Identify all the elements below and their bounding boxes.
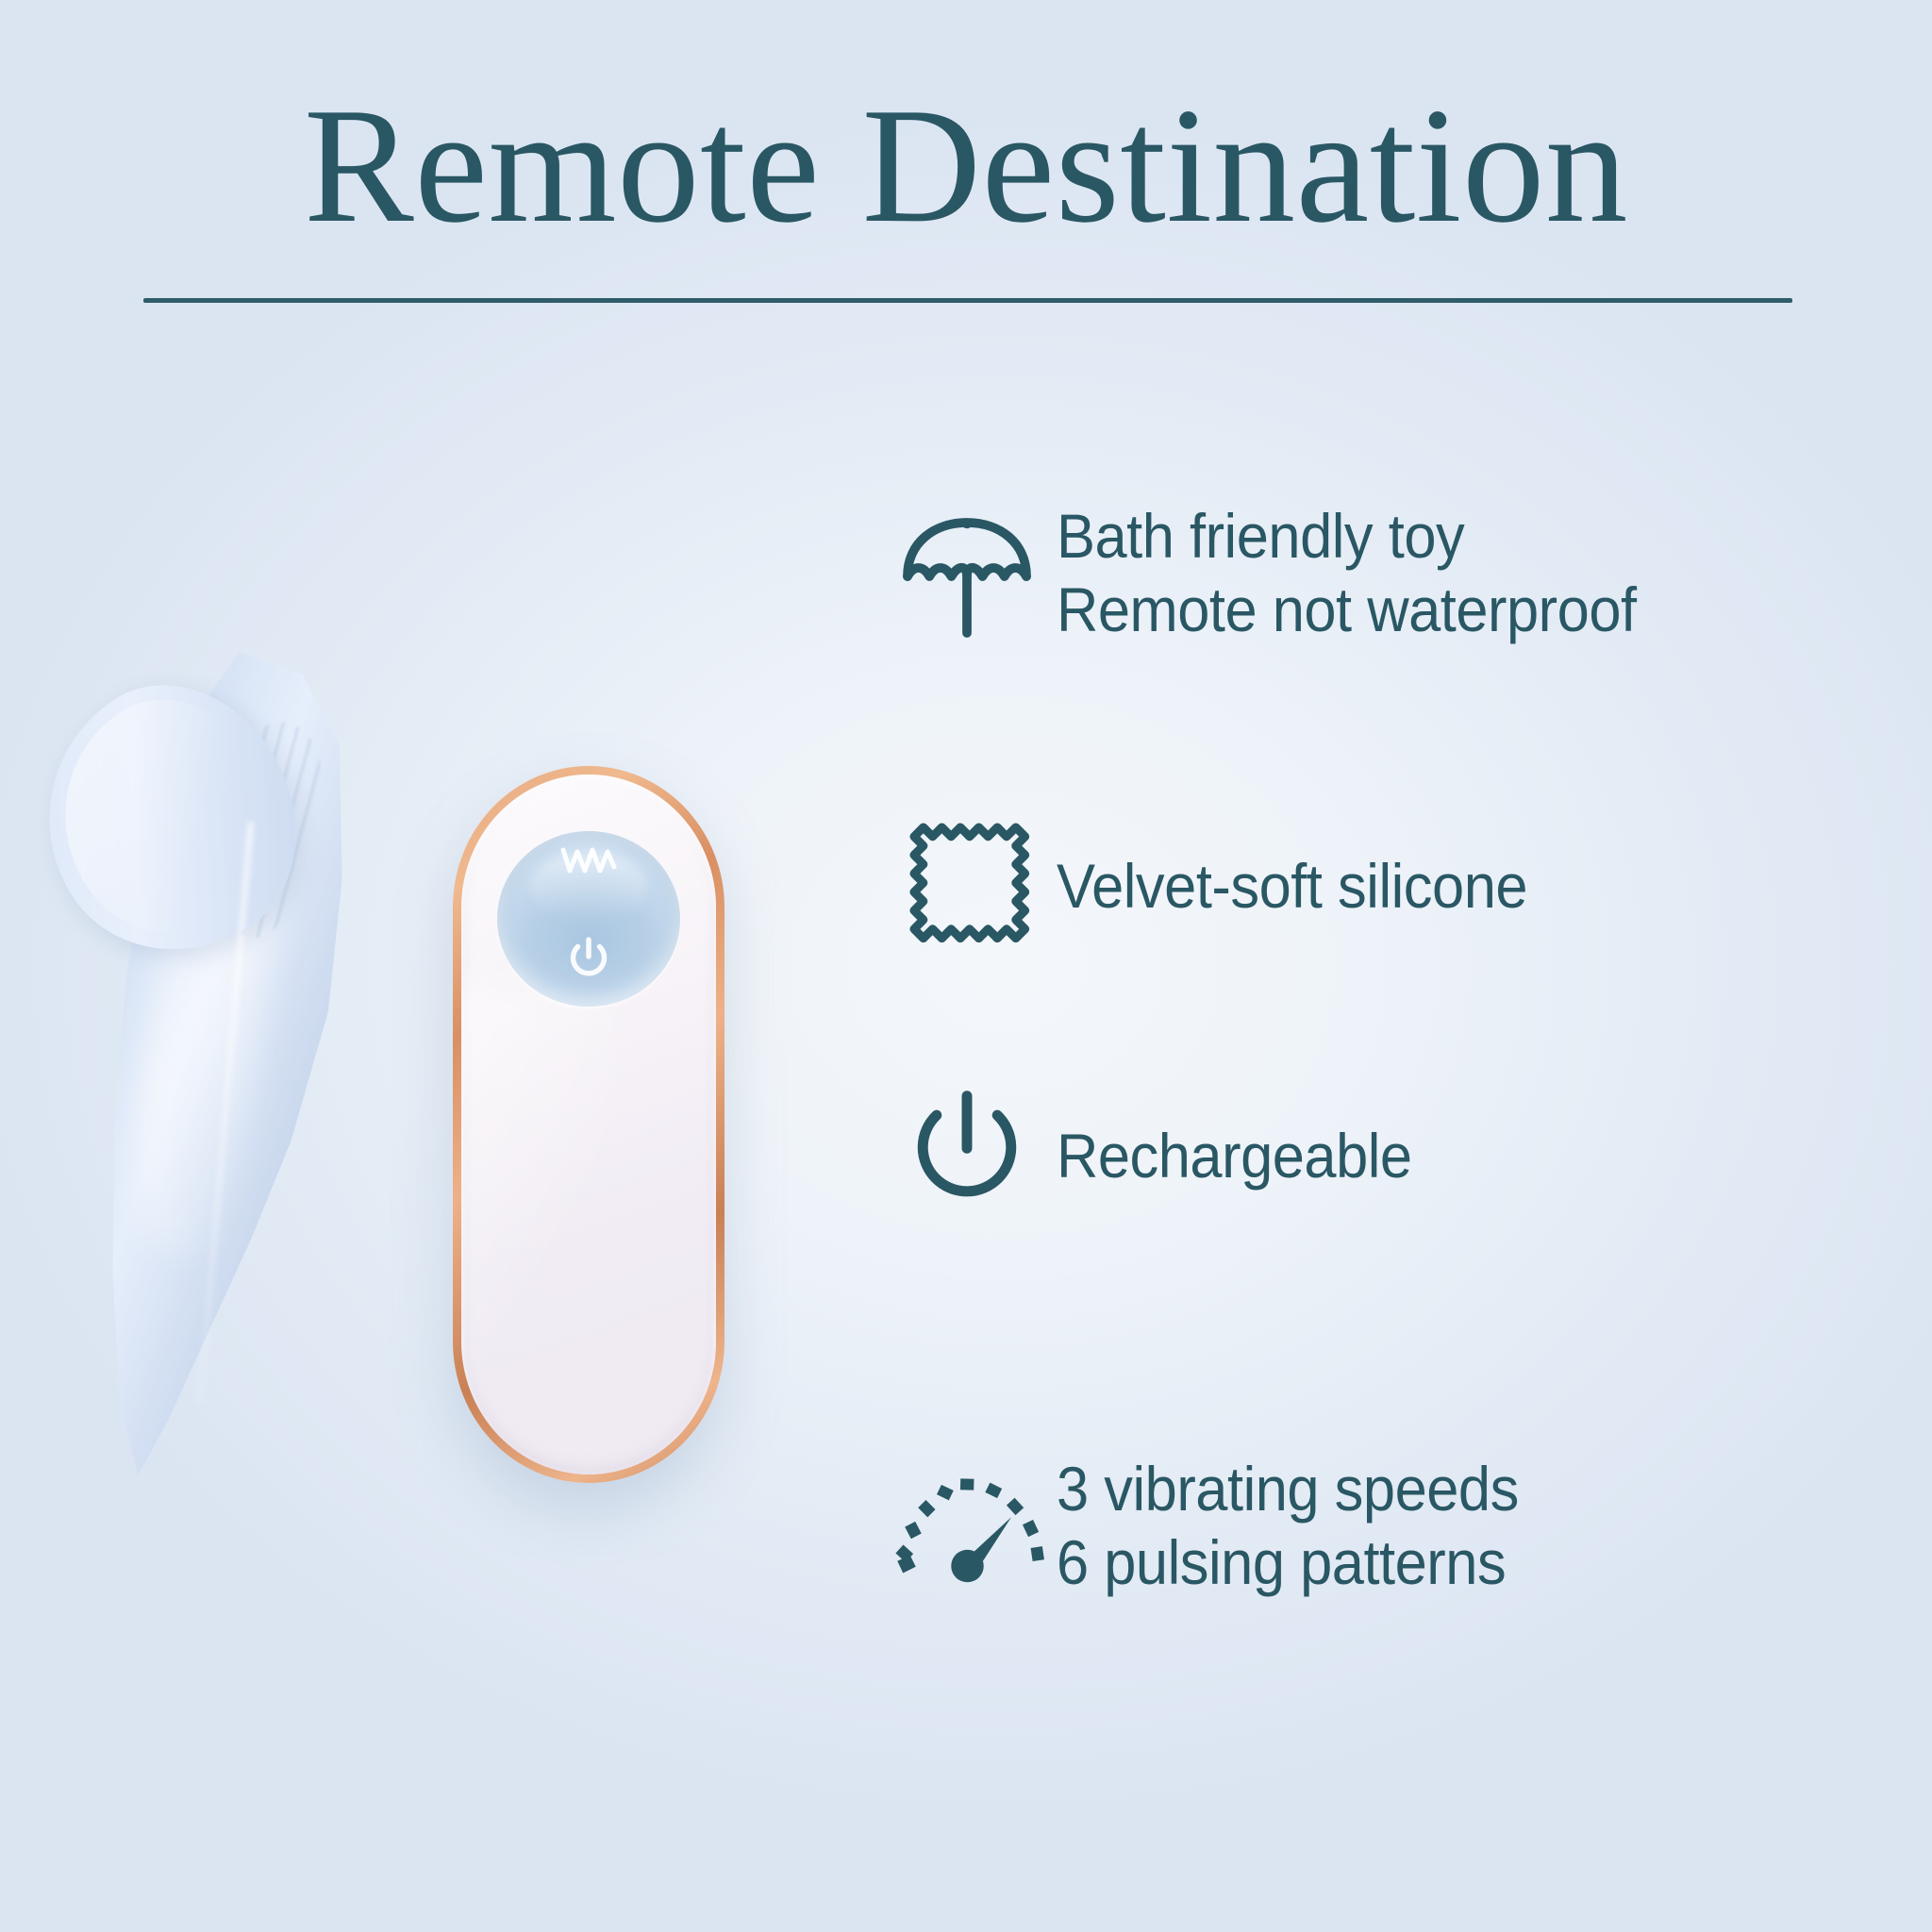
umbrella-icon xyxy=(877,503,1057,644)
feature-text-silicone: Velvet-soft silicone xyxy=(1057,850,1828,924)
feature-row-speeds: 3 vibrating speeds 6 pulsing patterns xyxy=(877,1453,1887,1600)
feature-row-bath-friendly: Bath friendly toy Remote not waterproof xyxy=(877,500,1887,647)
product-remote-image xyxy=(453,766,724,1483)
feature-line: 6 pulsing patterns xyxy=(1057,1526,1828,1600)
feature-line: Velvet-soft silicone xyxy=(1057,850,1828,924)
power-icon xyxy=(877,1085,1057,1228)
feature-line: Rechargeable xyxy=(1057,1120,1828,1193)
remote-control-button[interactable] xyxy=(497,831,680,1007)
feature-text-speeds: 3 vibrating speeds 6 pulsing patterns xyxy=(1057,1453,1828,1600)
feature-line: Remote not waterproof xyxy=(1057,574,1828,647)
feature-row-silicone: Velvet-soft silicone xyxy=(877,821,1887,953)
feature-line: Bath friendly toy xyxy=(1057,500,1828,574)
product-toy-image xyxy=(38,651,434,1500)
feature-row-rechargeable: Rechargeable xyxy=(877,1085,1887,1228)
power-icon xyxy=(564,934,613,991)
feature-text-bath-friendly: Bath friendly toy Remote not waterproof xyxy=(1057,500,1828,647)
title-block: Remote Destination xyxy=(0,83,1932,248)
speedometer-icon xyxy=(877,1460,1057,1592)
remote-sheen xyxy=(461,985,614,1391)
infographic-page: Remote Destination xyxy=(0,0,1932,1932)
page-title: Remote Destination xyxy=(0,83,1932,248)
title-divider xyxy=(143,298,1792,303)
zigzag-square-icon xyxy=(877,821,1057,953)
feature-text-rechargeable: Rechargeable xyxy=(1057,1120,1828,1193)
remote-face xyxy=(461,774,716,1474)
wave-icon xyxy=(559,844,618,881)
feature-line: 3 vibrating speeds xyxy=(1057,1453,1828,1526)
